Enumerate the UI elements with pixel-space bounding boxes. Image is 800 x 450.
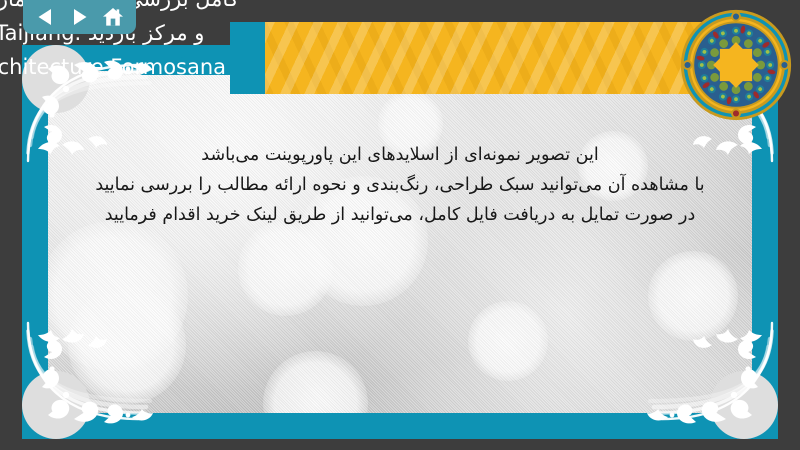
slide-frame: این تصویر نمونه‌ای از اسلایدهای این پاور… [22, 45, 778, 439]
triangle-left-icon [37, 8, 54, 26]
bokeh-circle [648, 251, 738, 341]
title-banner-tab [230, 22, 266, 94]
bokeh-circle [263, 351, 368, 413]
slide-body-line: با مشاهده آن می‌توانید سبک طراحی، رنگ‌بن… [62, 170, 738, 200]
forward-button[interactable] [64, 4, 94, 30]
slide-body-text: این تصویر نمونه‌ای از اسلایدهای این پاور… [62, 140, 738, 230]
home-button[interactable] [98, 4, 128, 30]
slide-viewer: این تصویر نمونه‌ای از اسلایدهای این پاور… [0, 0, 800, 450]
persian-mandala-medallion-icon [679, 8, 793, 122]
bokeh-circle [68, 286, 186, 404]
bokeh-circle [238, 221, 333, 316]
bokeh-circle [48, 221, 188, 371]
title-banner [265, 22, 725, 94]
back-button[interactable] [31, 4, 61, 30]
triangle-right-icon [71, 8, 88, 26]
slide-canvas [48, 71, 752, 413]
home-icon [102, 7, 124, 27]
bokeh-circle [468, 301, 548, 381]
slide-body-line: این تصویر نمونه‌ای از اسلایدهای این پاور… [62, 140, 738, 170]
slide-body-line: در صورت تمایل به دریافت فایل کامل، می‌تو… [62, 200, 738, 230]
navigation-bar[interactable] [23, 0, 136, 34]
